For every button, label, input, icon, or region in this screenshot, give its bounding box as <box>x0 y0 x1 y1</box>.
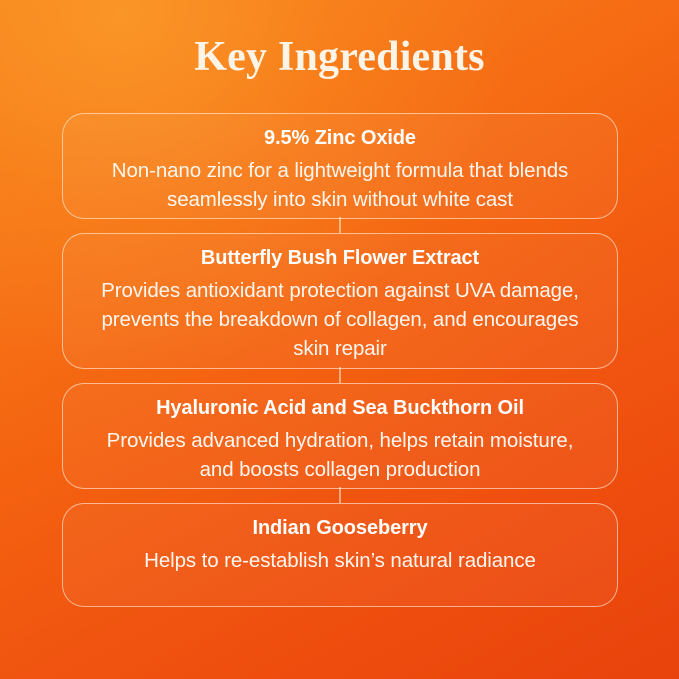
page-title: Key Ingredients <box>0 34 679 80</box>
ingredient-description: Provides antioxidant protection against … <box>94 276 586 363</box>
ingredient-heading: Butterfly Bush Flower Extract <box>81 246 599 271</box>
ingredient-description: Provides advanced hydration, helps retai… <box>90 426 590 484</box>
ingredient-card-indian-gooseberry: Indian Gooseberry Helps to re-establish … <box>62 503 618 607</box>
ingredient-card-hyaluronic-acid-sea-buckthorn-oil: Hyaluronic Acid and Sea Buckthorn Oil Pr… <box>62 383 618 489</box>
ingredient-description: Non-nano zinc for a lightweight formula … <box>90 156 590 214</box>
ingredient-heading: Indian Gooseberry <box>81 516 599 541</box>
ingredient-description: Helps to re-establish skin’s natural rad… <box>90 546 590 575</box>
ingredient-card-zinc-oxide: 9.5% Zinc Oxide Non-nano zinc for a ligh… <box>62 113 618 219</box>
key-ingredients-poster: Key Ingredients 9.5% Zinc Oxide Non-nano… <box>0 0 679 679</box>
ingredient-card-butterfly-bush-flower-extract: Butterfly Bush Flower Extract Provides a… <box>62 233 618 369</box>
ingredient-heading: 9.5% Zinc Oxide <box>81 126 599 151</box>
ingredient-heading: Hyaluronic Acid and Sea Buckthorn Oil <box>81 396 599 421</box>
ingredient-card-list: 9.5% Zinc Oxide Non-nano zinc for a ligh… <box>62 113 618 607</box>
